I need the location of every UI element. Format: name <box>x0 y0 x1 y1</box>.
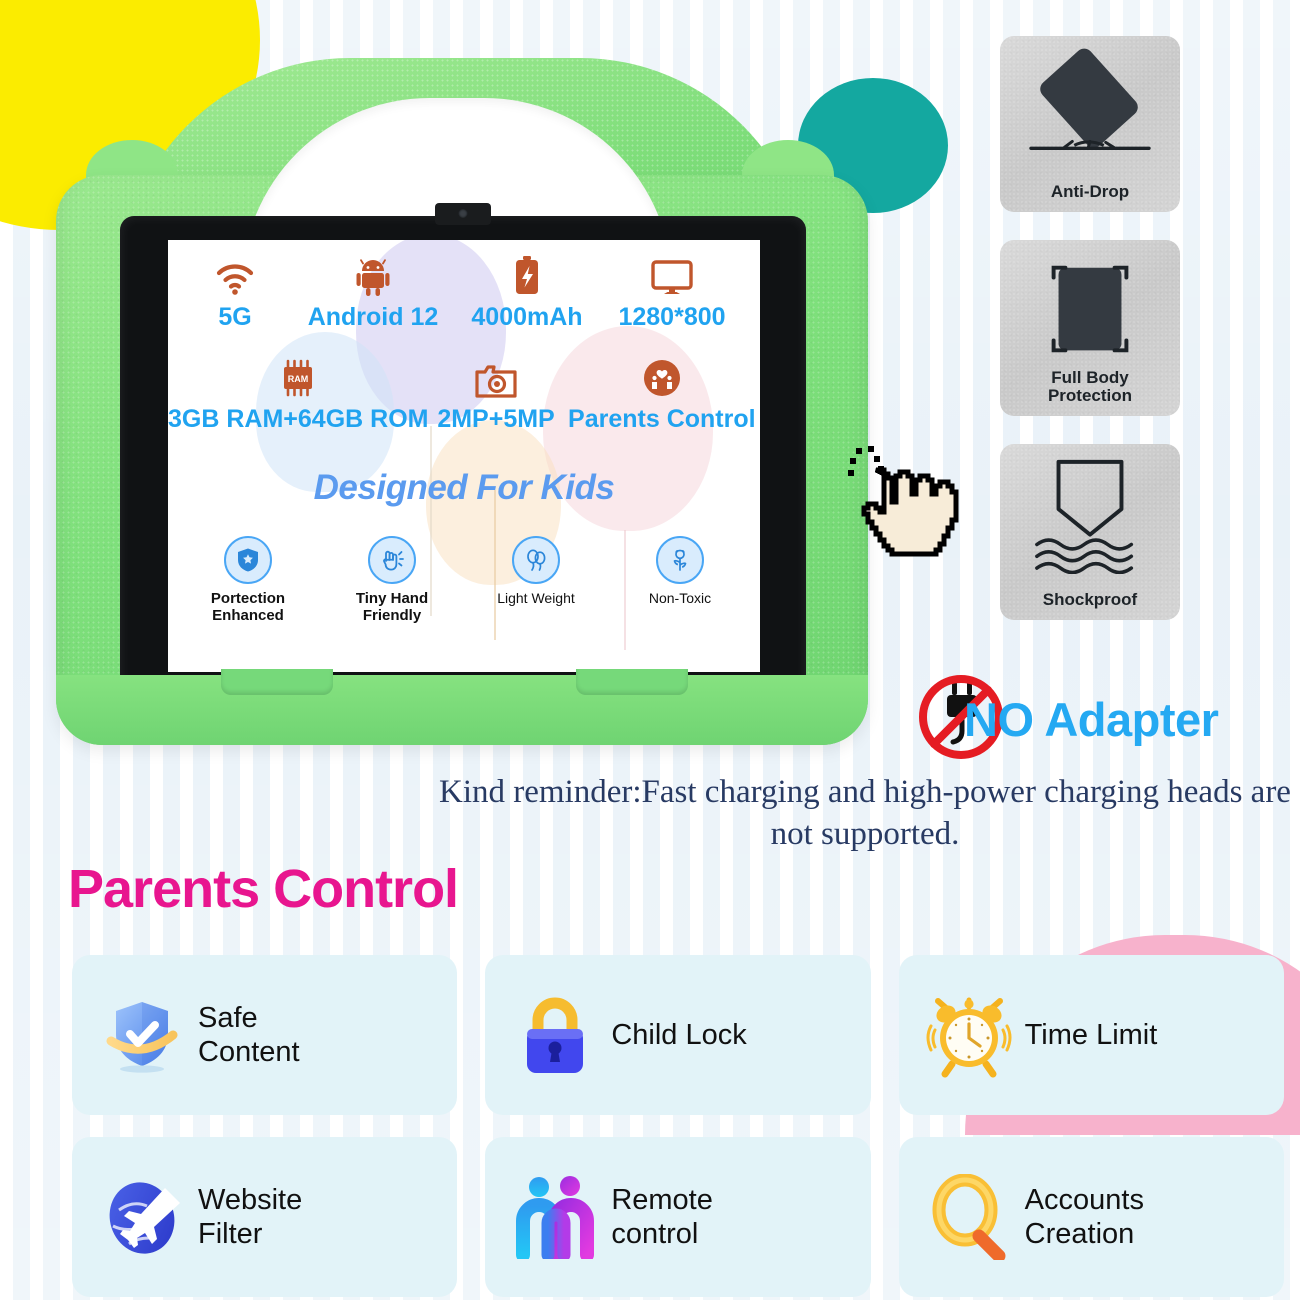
svg-text:RAM: RAM <box>288 374 309 384</box>
spec-row-1: 5G <box>168 256 760 332</box>
shield-star-icon <box>224 536 272 584</box>
ram-chip-icon: RAM <box>168 358 428 403</box>
spec-camera: 2MP+5MP <box>428 362 563 434</box>
feature-label: Tiny HandFriendly <box>326 591 458 625</box>
spec-row-2: RAM 3GB RAM+64GB ROM <box>168 358 760 434</box>
feature-non-toxic: Non-Toxic <box>614 536 746 625</box>
spec-label: 1280*800 <box>597 303 747 332</box>
camera-icon <box>428 362 563 403</box>
spec-label: 3GB RAM+64GB ROM <box>168 405 428 434</box>
feature-label: Non-Toxic <box>614 591 746 607</box>
magnifier-icon <box>917 1174 1021 1260</box>
shield-check-icon <box>90 993 194 1077</box>
tablet-bezel: 5G <box>120 216 806 694</box>
badge-full-body-protection: Full BodyProtection <box>1000 240 1180 416</box>
globe-plane-icon <box>90 1174 194 1260</box>
no-adapter-notice: NO Adapter <box>912 668 1218 771</box>
spec-android: Android 12 <box>289 258 457 332</box>
spec-battery: 4000mAh <box>457 256 597 332</box>
pc-card-label: Time Limit <box>1025 1018 1158 1052</box>
kind-reminder-text: Kind reminder:Fast charging and high-pow… <box>430 772 1300 856</box>
balloons-icon <box>512 536 560 584</box>
badge-label: Full BodyProtection <box>1048 369 1132 406</box>
alarm-clock-icon <box>917 992 1021 1078</box>
parents-control-icon <box>564 358 760 403</box>
feature-label: PortectionEnhanced <box>182 591 314 625</box>
padlock-icon <box>503 993 607 1077</box>
spec-label: 4000mAh <box>457 303 597 332</box>
spec-5g: 5G <box>181 262 289 332</box>
parents-control-grid: SafeContent Child Lock <box>72 955 1284 1297</box>
falling-tablet-icon <box>1000 46 1180 166</box>
case-stand-tab-left <box>221 669 333 695</box>
feature-protection-enhanced: PortectionEnhanced <box>182 536 314 625</box>
pc-card-child-lock[interactable]: Child Lock <box>485 955 870 1115</box>
pc-card-label: AccountsCreation <box>1025 1183 1144 1251</box>
badge-shockproof: Shockproof <box>1000 444 1180 620</box>
badge-label: Anti-Drop <box>1051 183 1129 202</box>
spec-label: 2MP+5MP <box>428 405 563 434</box>
pc-card-accounts-creation[interactable]: AccountsCreation <box>899 1137 1284 1297</box>
spec-label: Android 12 <box>289 303 457 332</box>
shield-waves-icon <box>1000 454 1180 574</box>
android-robot-icon <box>289 258 457 301</box>
protection-badges: Anti-Drop Full BodyProtection Shockproof <box>1000 36 1182 648</box>
flower-icon <box>656 536 704 584</box>
pointing-hand-cursor-icon <box>848 444 966 577</box>
pc-card-website-filter[interactable]: WebsiteFilter <box>72 1137 457 1297</box>
pc-card-time-limit[interactable]: Time Limit <box>899 955 1284 1115</box>
pc-card-label: Child Lock <box>611 1018 746 1052</box>
two-people-icon <box>503 1175 607 1259</box>
pc-card-safe-content[interactable]: SafeContent <box>72 955 457 1115</box>
tablet-product-image: 5G <box>42 20 882 740</box>
badge-label: Shockproof <box>1043 591 1137 610</box>
spec-label: Parents Control <box>564 405 760 434</box>
pc-card-label: SafeContent <box>198 1001 300 1069</box>
pc-card-remote-control[interactable]: Remotecontrol <box>485 1137 870 1297</box>
spec-memory: RAM 3GB RAM+64GB ROM <box>168 358 428 434</box>
feature-light-weight: Light Weight <box>470 536 602 625</box>
parents-control-title: Parents Control <box>68 858 458 920</box>
designed-for-kids-headline: Designed For Kids <box>168 468 760 508</box>
badge-anti-drop: Anti-Drop <box>1000 36 1180 212</box>
front-camera-icon <box>435 203 491 225</box>
full-body-brackets-icon <box>1000 250 1180 370</box>
pc-card-label: Remotecontrol <box>611 1183 713 1251</box>
feature-label: Light Weight <box>470 591 602 607</box>
wifi-icon <box>181 262 289 301</box>
no-adapter-text: NO Adapter <box>964 692 1218 747</box>
monitor-icon <box>597 260 747 301</box>
hand-ok-icon <box>368 536 416 584</box>
case-stand-tab-right <box>576 669 688 695</box>
spec-resolution: 1280*800 <box>597 260 747 332</box>
pc-card-label: WebsiteFilter <box>198 1183 302 1251</box>
case-bottom-lip <box>56 675 868 745</box>
spec-parents-control: Parents Control <box>564 358 760 434</box>
tablet-screen: 5G <box>168 240 760 672</box>
spec-label: 5G <box>181 303 289 332</box>
feature-tiny-hand-friendly: Tiny HandFriendly <box>326 536 458 625</box>
kid-feature-row: PortectionEnhanced Tiny HandFriendly <box>182 536 746 625</box>
battery-bolt-icon <box>457 256 597 301</box>
